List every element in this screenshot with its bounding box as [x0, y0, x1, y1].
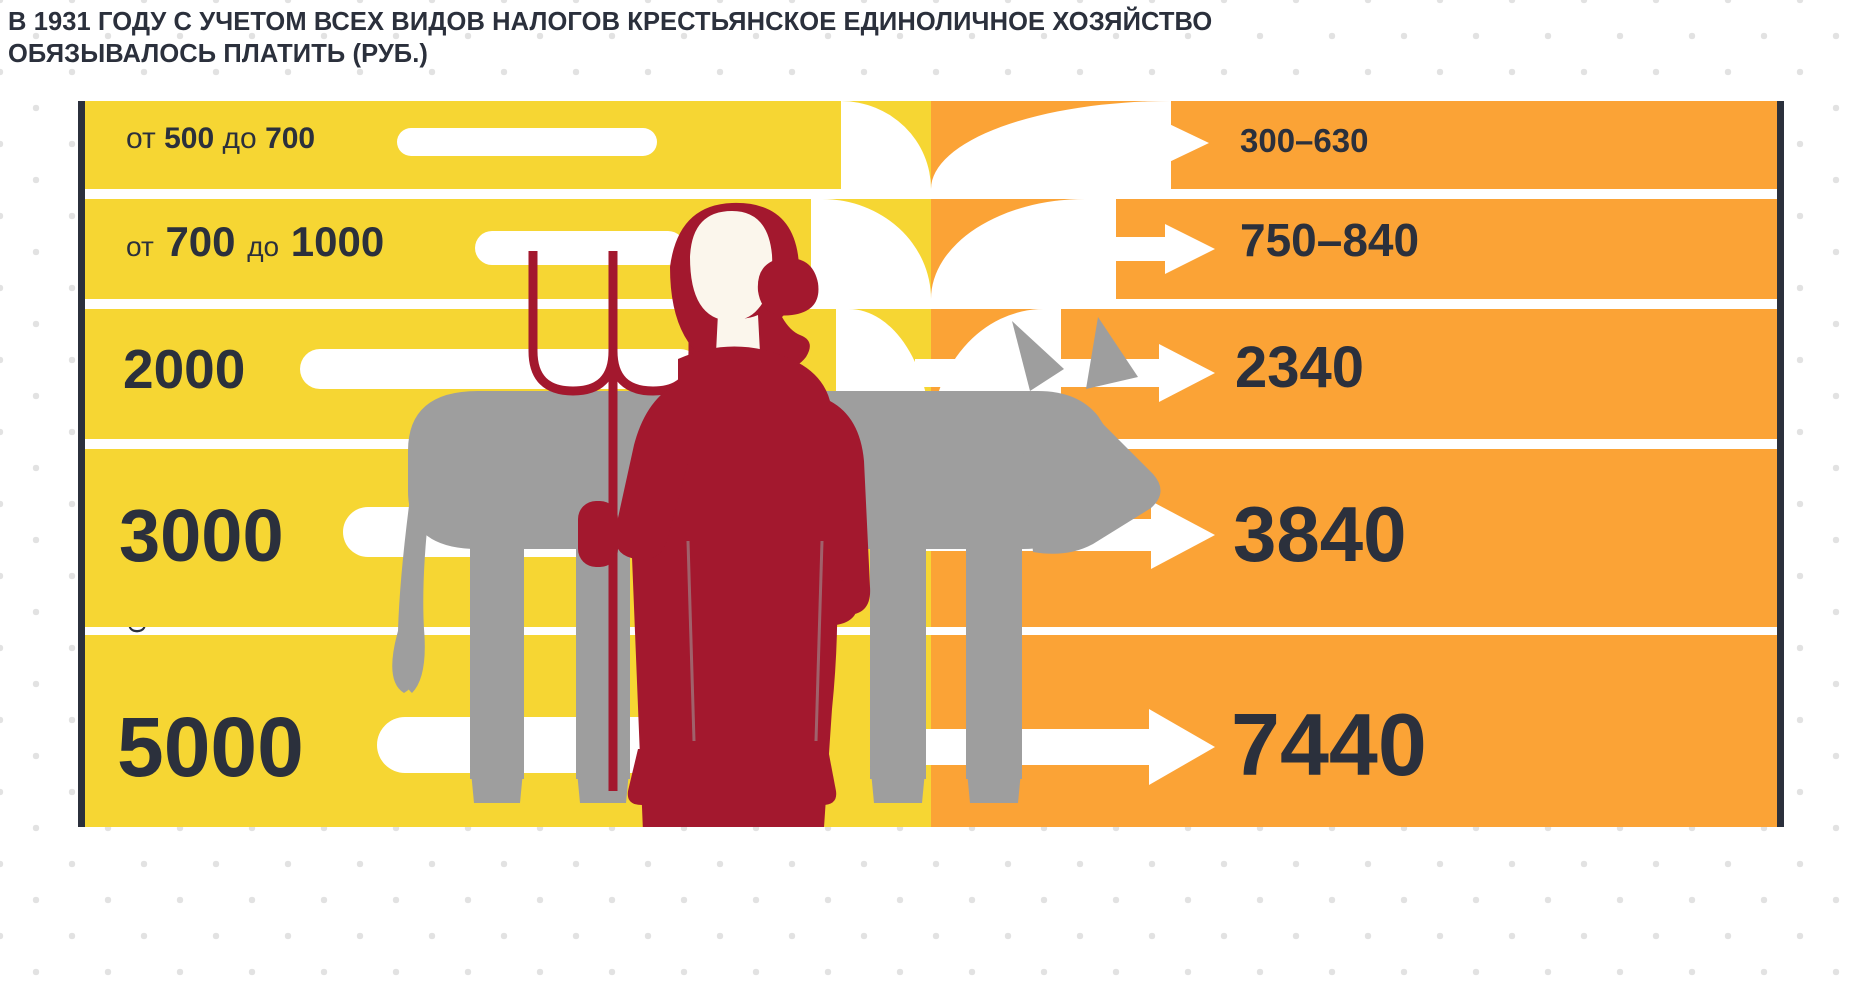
income-label-5: 5000	[117, 705, 304, 789]
tax-label-5: 7440	[1231, 701, 1427, 789]
infographic-chart: ПРИ ДОХОДЕ НАЛОГ от 500 до 700 300–630	[78, 101, 1784, 827]
tax-label-2: 750–840	[1240, 217, 1419, 263]
right-axis-rule	[1777, 101, 1784, 827]
income-label-4: 3000	[119, 499, 284, 573]
table-row: 2000 2340	[85, 309, 1777, 439]
income-label-1: от 500 до 700	[126, 124, 315, 154]
tax-label-3: 2340	[1235, 339, 1364, 397]
income-bar-3	[300, 349, 700, 389]
tax-arrow-3	[915, 344, 1215, 402]
page-title: В 1931 ГОДУ С УЧЕТОМ ВСЕХ ВИДОВ НАЛОГОВ …	[8, 6, 1848, 70]
income-bar-2	[475, 231, 685, 265]
income-bar-5	[377, 717, 773, 773]
tax-arrow-4	[875, 501, 1215, 569]
income-bar-4	[343, 507, 773, 557]
tax-arrow-2	[965, 224, 1215, 274]
tax-label-1: 300–630	[1240, 124, 1368, 157]
income-label-2: от 700 до 1000	[126, 221, 384, 263]
tax-label-4: 3840	[1233, 495, 1407, 573]
income-label-3: 2000	[123, 342, 245, 397]
table-row: 5000 7440	[85, 635, 1777, 827]
income-bar-1	[397, 128, 657, 156]
tax-arrow-1	[995, 122, 1215, 164]
tax-arrow-5	[875, 709, 1215, 785]
table-row: 3000 3840	[85, 449, 1777, 627]
table-row: от 500 до 700 300–630	[85, 101, 1777, 189]
left-axis-rule	[78, 101, 85, 827]
table-row: от 700 до 1000 750–840	[85, 199, 1777, 299]
